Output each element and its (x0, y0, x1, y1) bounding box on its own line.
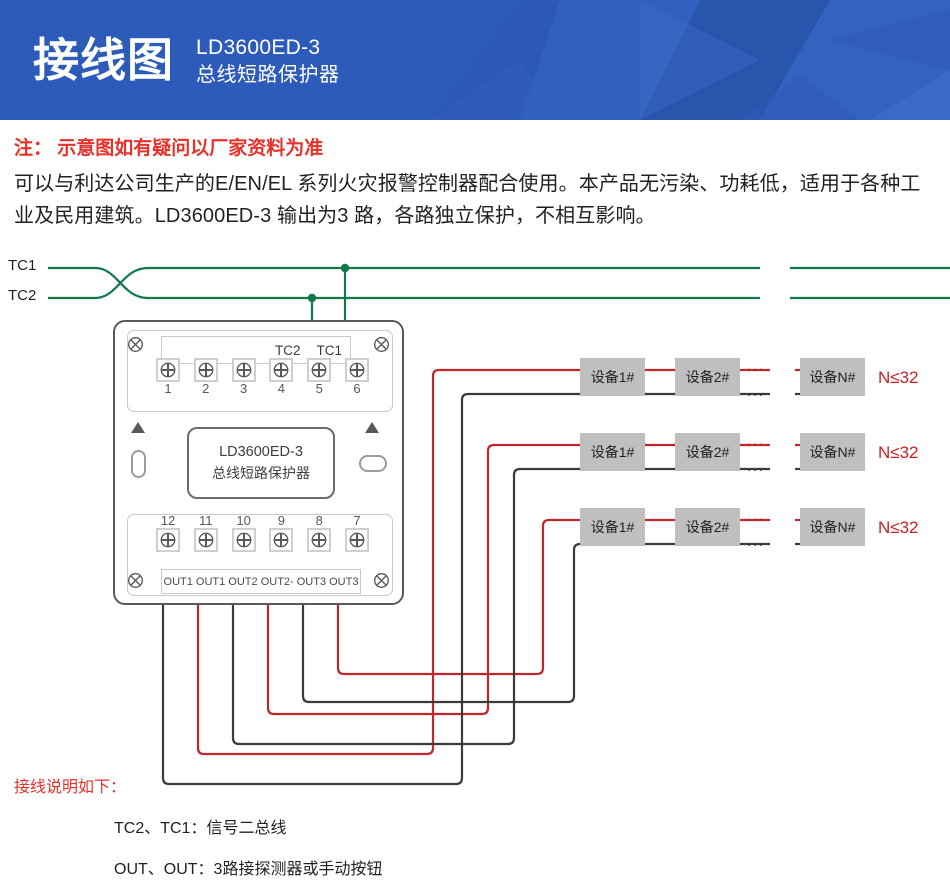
device-box: 设备2# (675, 508, 740, 546)
bottom-notes: 接线说明如下： TC2、TC1：信号二总线 OUT、OUT：3路接探测器或手动按… (14, 778, 914, 879)
terminal-5[interactable]: 5 (306, 358, 332, 408)
ellipsis-black: ··· (747, 538, 765, 551)
note-warning: 注： 示意图如有疑问以厂家资料为准 (14, 133, 939, 160)
bus-junction-tc2 (308, 294, 316, 302)
wiring-diagram: TC1 TC2 (0, 248, 950, 788)
screw-cross-icon (232, 358, 256, 382)
note-block: 注： 示意图如有疑问以厂家资料为准 可以与利达公司生产的E/EN/EL 系列火灾… (14, 133, 939, 233)
ellipsis-black: ··· (747, 463, 765, 476)
terminal-number: 7 (353, 514, 360, 528)
header-product-name: 总线短路保护器 (196, 62, 340, 88)
screw-x-icon (373, 336, 390, 353)
terminal-number: 12 (161, 514, 175, 528)
bottom-note-row: OUT、OUT：3路接探测器或手动按钮 (114, 855, 914, 879)
unit-model-label: LD3600ED-3 (219, 442, 303, 463)
ellipsis-red: ··· (747, 512, 765, 525)
terminal-number: 2 (202, 382, 209, 396)
terminal-8[interactable]: 8 (306, 502, 332, 552)
header-model: LD3600ED-3 (196, 34, 340, 62)
ellipsis-black: ··· (747, 388, 765, 401)
header-subtitle-group: LD3600ED-3 总线短路保护器 (196, 31, 340, 88)
ellipsis-red: ··· (747, 437, 765, 450)
terminal-number: 8 (316, 514, 323, 528)
screw-cross-icon (156, 528, 180, 552)
orientation-arrow-icon (365, 422, 379, 433)
screw-cross-icon (156, 358, 180, 382)
device-box: 设备2# (675, 358, 740, 396)
bottom-terminal-row: 12 11 (155, 502, 370, 552)
terminal-number: 5 (316, 382, 323, 396)
screw-cross-icon (307, 528, 331, 552)
screw-cross-icon (307, 358, 331, 382)
screw-cross-icon (345, 528, 369, 552)
device-limit-label: N≤32 (878, 443, 919, 463)
ellipsis-red: ··· (747, 362, 765, 375)
terminal-10[interactable]: 10 (231, 502, 257, 552)
tc-label-left: TC2 (275, 343, 301, 358)
terminal-1[interactable]: 1 (155, 358, 181, 408)
device-box: 设备1# (580, 433, 645, 471)
out-label: OUT2- (261, 576, 294, 588)
device-box: 设备N# (800, 358, 865, 396)
out-label: OUT2 (228, 576, 257, 588)
bus-junction-tc1 (341, 264, 349, 272)
terminal-12[interactable]: 12 (155, 502, 181, 552)
terminal-number: 10 (236, 514, 250, 528)
device-limit-label: N≤32 (878, 368, 919, 388)
screw-x-icon (373, 572, 390, 589)
terminal-9[interactable]: 9 (268, 502, 294, 552)
screw-x-icon (127, 336, 144, 353)
screw-cross-icon (232, 528, 256, 552)
note-description: 可以与利达公司生产的E/EN/EL 系列火灾报警控制器配合使用。本产品无污染、功… (14, 168, 939, 233)
screw-cross-icon (269, 528, 293, 552)
out-label: OUT1 (164, 576, 193, 588)
device-box: 设备1# (580, 358, 645, 396)
terminal-number: 11 (199, 514, 213, 528)
terminal-number: 3 (240, 382, 247, 396)
screw-cross-icon (194, 528, 218, 552)
device-box: 设备N# (800, 433, 865, 471)
terminal-number: 9 (278, 514, 285, 528)
terminal-3[interactable]: 3 (231, 358, 257, 408)
protector-unit: TC2 TC1 1 (113, 320, 404, 605)
device-box: 设备1# (580, 508, 645, 546)
output-label-strip: OUT1 OUT1 OUT2 OUT2- OUT3 OUT3 (161, 569, 361, 594)
out-label: OUT3 (329, 576, 358, 588)
screw-x-icon (127, 572, 144, 589)
screw-cross-icon (269, 358, 293, 382)
mounting-slot-right (359, 455, 387, 472)
terminal-number: 4 (278, 382, 285, 396)
screw-cross-icon (345, 358, 369, 382)
terminal-number: 6 (353, 382, 360, 396)
terminal-2[interactable]: 2 (193, 358, 219, 408)
out-label: OUT3 (297, 576, 326, 588)
page-header: 接线图 LD3600ED-3 总线短路保护器 (0, 0, 950, 120)
top-terminal-row: 1 2 (155, 358, 370, 408)
device-limit-label: N≤32 (878, 518, 919, 538)
terminal-6[interactable]: 6 (344, 358, 370, 408)
page-title: 接线图 (33, 37, 174, 83)
orientation-arrow-icon (131, 422, 145, 433)
bottom-note-row: TC2、TC1：信号二总线 (114, 814, 914, 838)
tc-label-right: TC1 (316, 343, 342, 358)
terminal-11[interactable]: 11 (193, 502, 219, 552)
bottom-notes-title: 接线说明如下： (14, 778, 914, 797)
device-box: 设备N# (800, 508, 865, 546)
terminal-number: 1 (164, 382, 171, 396)
unit-name-label: 总线短路保护器 (212, 463, 310, 483)
unit-nameplate: LD3600ED-3 总线短路保护器 (187, 427, 335, 499)
terminal-7[interactable]: 7 (344, 502, 370, 552)
terminal-4[interactable]: 4 (268, 358, 294, 408)
mounting-slot-left (131, 450, 146, 478)
screw-cross-icon (194, 358, 218, 382)
out-label: OUT1 (196, 576, 225, 588)
device-box: 设备2# (675, 433, 740, 471)
